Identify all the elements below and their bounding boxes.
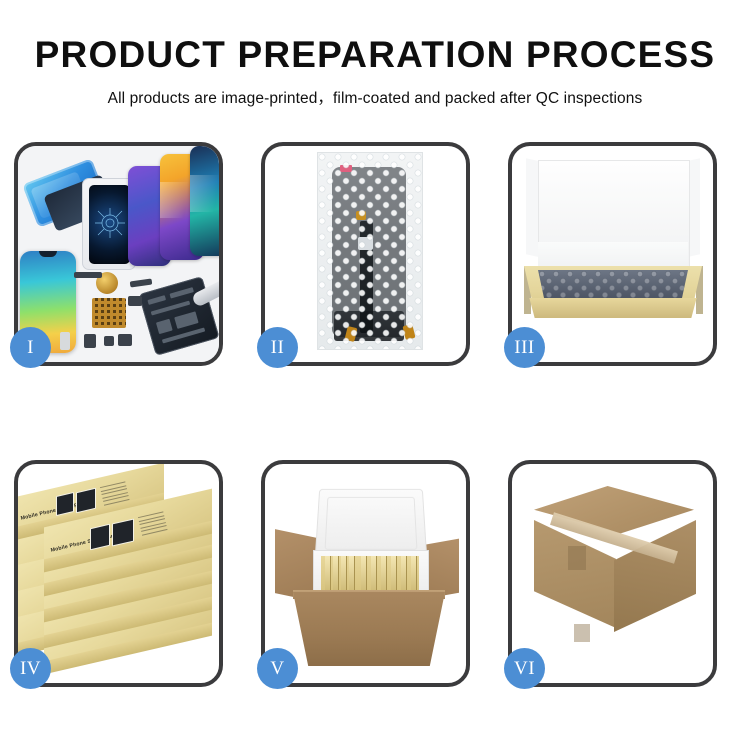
panel-carton-with-foam[interactable]: V [261,460,470,687]
panel-sealed-carton[interactable]: VI [508,460,717,687]
step-badge-2: II [257,327,298,368]
bracket-icon [130,278,153,287]
sim-tray-icon [104,336,114,346]
panel-6-image [512,464,713,683]
screw-grid-icon [92,298,126,328]
header: PRODUCT PREPARATION PROCESS All products… [0,0,750,108]
process-steps-grid: I II [14,142,736,687]
product-preparation-infographic: PRODUCT PREPARATION PROCESS All products… [0,0,750,750]
carton-body-icon [293,592,445,666]
carton-tab-icon [568,546,586,570]
bubble-wrapped-contents-icon [538,270,688,298]
kraft-tray-front-icon [524,298,702,318]
camera-module-icon [118,334,132,346]
panel-parts-overview[interactable]: I [14,142,223,366]
panel-5-image [265,464,466,683]
panel-bubble-wrapped-screen[interactable]: II [261,142,470,366]
panel-3-image [512,146,713,362]
bubble-texture-icon [318,153,422,349]
panel-1-image [18,146,219,362]
carton-tab-icon [574,624,590,642]
box-window-icon [90,524,110,551]
panel-4-image: Mobile Phone Spare Parts [18,464,219,683]
step-badge-3: III [504,327,545,368]
speaker-icon [84,334,96,348]
step-badge-6: VI [504,648,545,689]
panel-inner-box-packing[interactable]: III [508,142,717,366]
panel-2-image [265,146,466,362]
panel-stacked-retail-boxes[interactable]: Mobile Phone Spare Parts [14,460,223,687]
battery-icon [60,332,70,350]
small-part-icon [128,296,142,306]
flex-cable-icon [74,272,102,278]
page-subtitle: All products are image-printed，film-coat… [0,73,750,108]
page-title: PRODUCT PREPARATION PROCESS [0,0,750,73]
step-badge-4: IV [10,648,51,689]
phone-teal-icon [190,146,219,256]
bubble-wrap-bag-icon [317,152,423,350]
step-badge-1: I [10,327,51,368]
crack-lines-icon [95,208,125,238]
step-badge-5: V [257,648,298,689]
box-stack-icon: Mobile Phone Spare Parts [18,464,219,683]
